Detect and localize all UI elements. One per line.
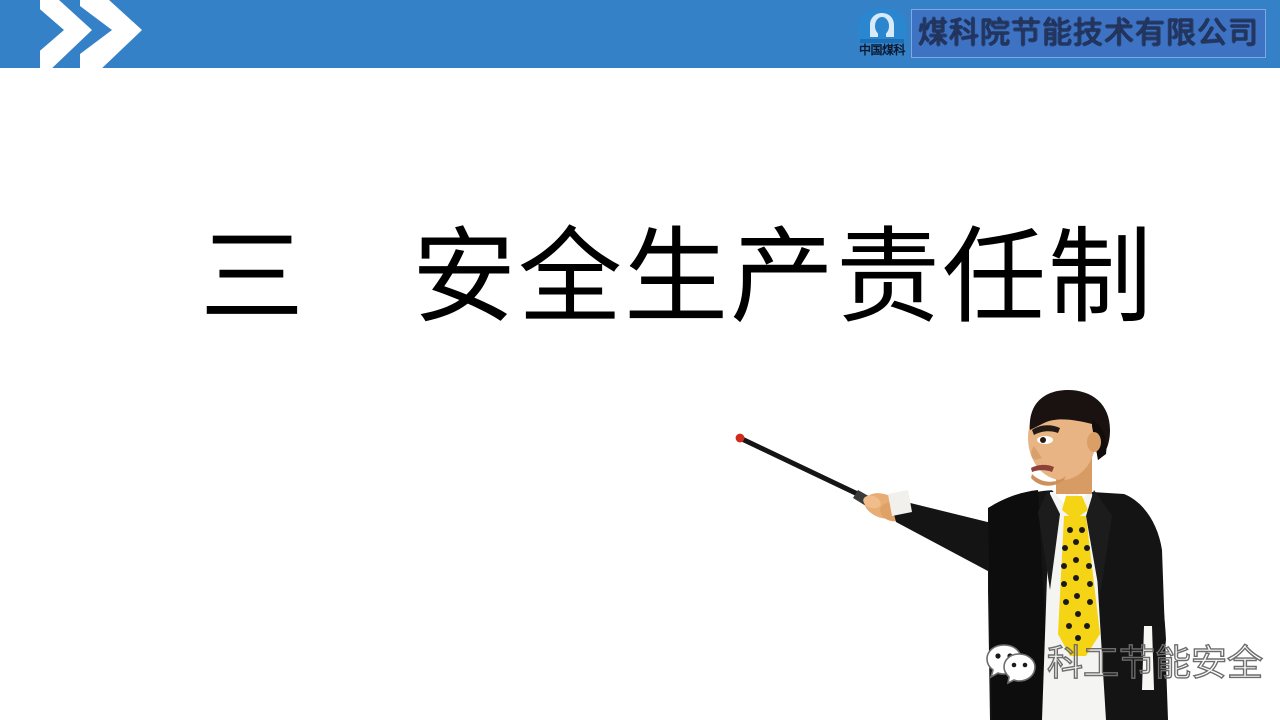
company-name-text: 煤科院节能技术有限公司 — [918, 18, 1259, 50]
right-shirt-edge — [1142, 626, 1154, 690]
presenter-figure — [720, 390, 1180, 720]
pointer-stick-icon — [736, 434, 872, 506]
logo-caption: 中国煤科 — [846, 44, 918, 57]
head — [1028, 390, 1110, 486]
chevron-double-right-icon — [40, 0, 170, 68]
header-bar: 中国煤科 煤科院节能技术有限公司 — [0, 0, 1280, 68]
slide-canvas: 中国煤科 煤科院节能技术有限公司 三 安全生产责任制 — [0, 0, 1280, 720]
page-title: 三 安全生产责任制 — [200, 218, 1100, 336]
company-logo: 中国煤科 — [846, 4, 918, 64]
businessman-with-pointer-illustration — [720, 390, 1180, 720]
chevron-decoration — [40, 0, 170, 68]
shirt-cuff — [888, 490, 912, 516]
company-name-box: 煤科院节能技术有限公司 — [911, 9, 1266, 58]
